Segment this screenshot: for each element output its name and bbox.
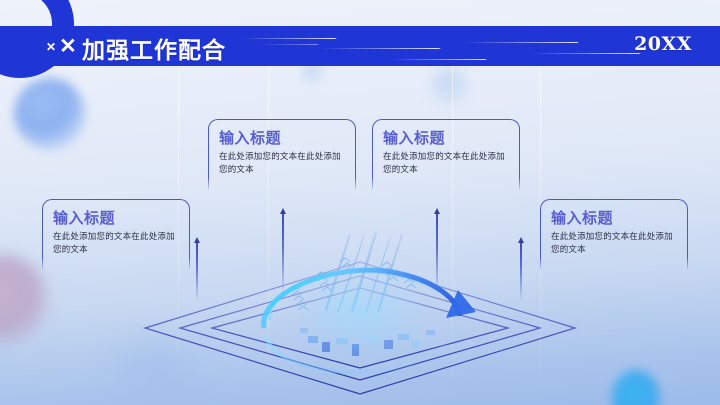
isometric-platform-svg [140,232,580,402]
header-accent-line [257,44,319,45]
info-card-1[interactable]: 输入标题 在此处添加您的文本在此处添加您的文本 [42,199,190,257]
header-accent-line [461,42,579,43]
bokeh-circle-left [0,255,48,345]
info-card-4[interactable]: 输入标题 在此处添加您的文本在此处添加您的文本 [540,199,688,257]
connector-arrow-1 [196,241,198,301]
header-accent-line [319,48,441,49]
info-card-title: 输入标题 [53,207,179,228]
info-card-title: 输入标题 [219,127,345,148]
slide-canvas: ✕ ✕ 加强工作配合 20XX [0,0,720,405]
page-title: 加强工作配合 [82,31,226,65]
central-graphic [140,232,580,402]
bokeh-circle-top-left [14,78,86,150]
year-label: 20XX [634,33,692,55]
info-card-body: 在此处添加您的文本在此处添加您的文本 [219,151,345,177]
connector-arrow-2 [282,212,284,294]
cross-large-icon: ✕ [59,36,77,57]
cross-small-icon: ✕ [46,41,56,53]
connector-arrow-4 [520,241,522,301]
header-accent-line [529,53,641,54]
info-card-title: 输入标题 [551,207,677,228]
info-card-body: 在此处添加您的文本在此处添加您的文本 [551,231,677,257]
info-card-3[interactable]: 输入标题 在此处添加您的文本在此处添加您的文本 [372,119,520,177]
bokeh-circle-upper-mid [430,66,470,106]
info-card-body: 在此处添加您的文本在此处添加您的文本 [383,151,509,177]
bokeh-circle-bottom-right [612,370,660,405]
info-card-title: 输入标题 [383,127,509,148]
header-accent-line [239,38,337,39]
header-accent-line [389,59,487,60]
connector-arrow-3 [436,212,438,294]
info-card-body: 在此处添加您的文本在此处添加您的文本 [53,231,179,257]
info-card-2[interactable]: 输入标题 在此处添加您的文本在此处添加您的文本 [208,119,356,177]
logo-mark: ✕ ✕ [46,36,77,57]
